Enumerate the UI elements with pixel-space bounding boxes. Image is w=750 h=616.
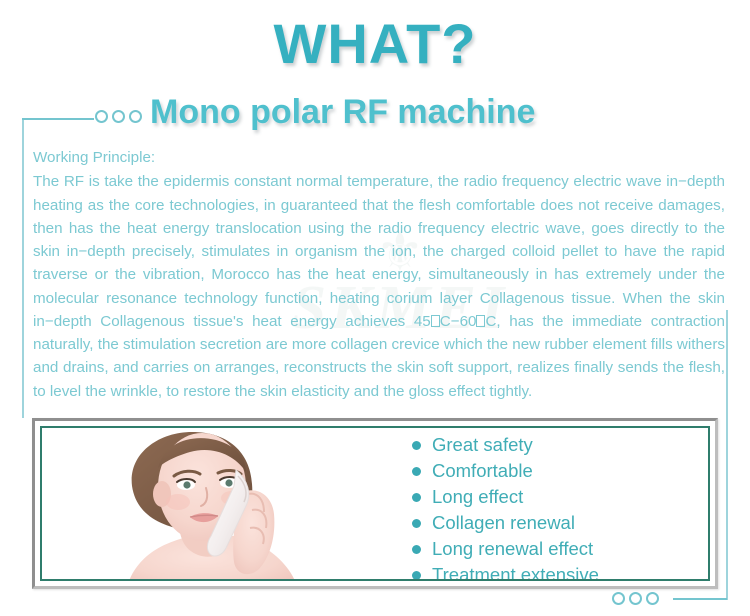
working-principle-text: The RF is take the epidermis constant no…: [33, 170, 725, 403]
feature-label: Comfortable: [432, 462, 533, 481]
circle-outline-icon: [95, 110, 108, 123]
model-photo: [66, 426, 366, 581]
working-principle-block: Working Principle: The RF is take the ep…: [33, 146, 725, 403]
bullet-dot-icon: [412, 493, 421, 502]
missing-glyph-icon: [431, 315, 440, 327]
circle-outline-icon: [129, 110, 142, 123]
feature-label: Great safety: [432, 436, 533, 455]
decor-horizontal-rule-left: [22, 118, 94, 120]
feature-label: Long effect: [432, 488, 523, 507]
list-item: Treatment extensive: [412, 562, 710, 581]
bullet-dot-icon: [412, 467, 421, 476]
circle-outline-icon: [629, 592, 642, 605]
bullet-dot-icon: [412, 545, 421, 554]
list-item: Comfortable: [412, 458, 710, 484]
list-item: Long renewal effect: [412, 536, 710, 562]
working-principle-label: Working Principle:: [33, 146, 725, 169]
circle-outline-icon: [112, 110, 125, 123]
feature-label: Collagen renewal: [432, 514, 575, 533]
feature-list: Great safety Comfortable Long effect Col…: [412, 432, 710, 581]
paragraph-segment-2: C−60: [440, 313, 477, 330]
paragraph-segment-1: The RF is take the epidermis constant no…: [33, 173, 725, 330]
list-item: Great safety: [412, 432, 710, 458]
bullet-dot-icon: [412, 441, 421, 450]
decor-vertical-line-right: [726, 310, 728, 600]
bullet-dot-icon: [412, 519, 421, 528]
circle-outline-icon: [612, 592, 625, 605]
product-info-page: ⚜ SKMEI WHAT? Mono polar RF machine Work…: [0, 0, 750, 616]
page-title: WHAT?: [0, 16, 750, 72]
decor-rings-right: [612, 592, 659, 605]
feature-label: Treatment extensive: [432, 566, 599, 581]
feature-panel: Great safety Comfortable Long effect Col…: [32, 418, 718, 589]
list-item: Long effect: [412, 484, 710, 510]
list-item: Collagen renewal: [412, 510, 710, 536]
bullet-dot-icon: [412, 571, 421, 580]
decor-horizontal-rule-right: [673, 598, 727, 600]
circle-outline-icon: [646, 592, 659, 605]
feature-panel-inner-frame: Great safety Comfortable Long effect Col…: [40, 426, 710, 581]
feature-label: Long renewal effect: [432, 540, 593, 559]
page-subtitle: Mono polar RF machine: [150, 93, 535, 132]
decor-rings-left: [95, 110, 142, 123]
decor-vertical-line-left: [22, 118, 24, 418]
